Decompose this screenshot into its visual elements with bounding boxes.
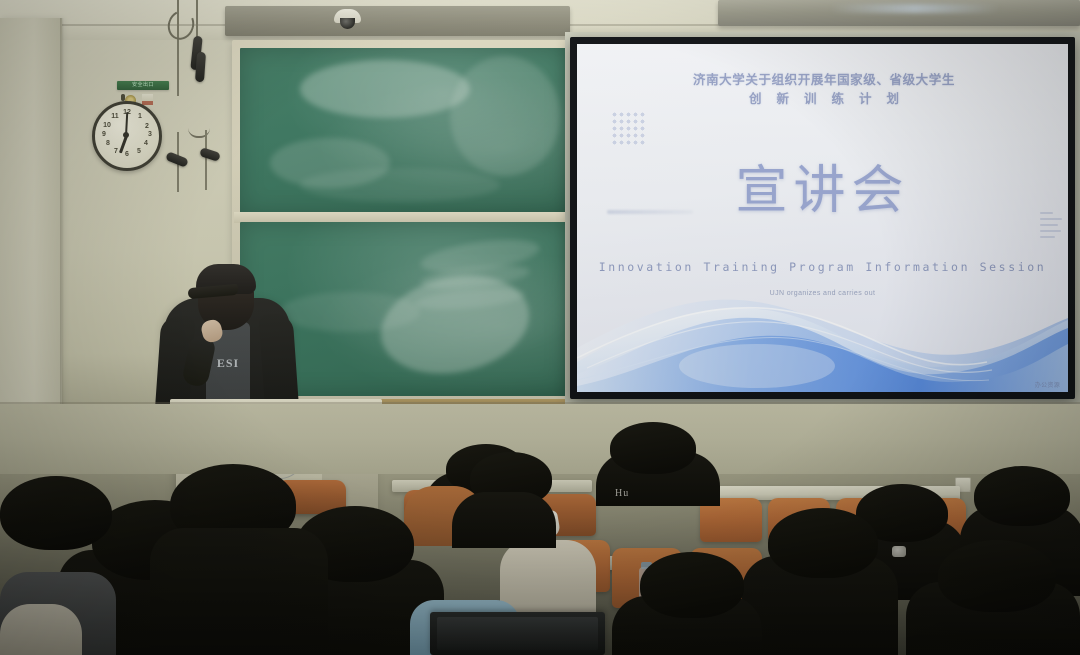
dot-grid-decoration xyxy=(611,111,645,145)
chalk-smudge xyxy=(450,56,560,176)
exit-sign-label: 安全出口 xyxy=(117,81,169,90)
audience-head xyxy=(610,422,696,474)
chalk-smudge xyxy=(300,168,500,202)
clock-center-pin xyxy=(123,132,129,138)
wall-pilaster xyxy=(0,18,62,448)
slide-header-line1: 济南大学关于组织开展年国家级、省级大学生 xyxy=(693,72,955,87)
clock-num-6: 6 xyxy=(122,150,132,160)
clock-num-8: 8 xyxy=(103,139,113,149)
speaker-presenter: ESI xyxy=(158,258,298,418)
wall-pilaster-edge xyxy=(60,18,64,448)
wall-clock: 12 1 2 3 4 5 6 7 8 9 10 11 xyxy=(92,101,162,171)
mic-cable-4 xyxy=(205,130,207,190)
audience-body xyxy=(452,492,556,548)
ceiling-light-glare xyxy=(830,4,1000,13)
clock-num-1: 1 xyxy=(135,112,145,122)
clock-num-5: 5 xyxy=(134,147,144,157)
audience-body xyxy=(0,604,82,655)
blackboard-upper-panel xyxy=(240,48,568,214)
hair-clip xyxy=(892,546,906,557)
lecture-hall-photo: 安全出口 12 1 2 3 4 5 6 7 8 9 10 11 xyxy=(0,0,1080,655)
slide-watermark: 办公资源 xyxy=(1035,380,1060,389)
clock-num-10: 10 xyxy=(102,121,112,131)
clock-num-9: 9 xyxy=(99,130,109,140)
chalk-smudge xyxy=(300,60,470,118)
ceiling-beam-left xyxy=(225,6,570,36)
audience-head xyxy=(768,508,878,578)
audience-head xyxy=(0,476,112,550)
jacket-text: Hu xyxy=(615,488,629,499)
clock-num-11: 11 xyxy=(110,112,120,122)
presentation-slide: 济南大学关于组织开展年国家级、省级大学生 创新训练计划 宣讲会 Innovati… xyxy=(577,44,1068,392)
audience-head xyxy=(974,466,1070,526)
clock-nail xyxy=(121,94,125,101)
exit-sign: 安全出口 xyxy=(117,81,169,90)
slide-wave-graphic xyxy=(577,270,1068,392)
chalk-smudge xyxy=(372,262,538,386)
slide-header-line2: 创新训练计划 xyxy=(629,89,1019,108)
audience-body xyxy=(150,528,328,655)
slide-header: 济南大学关于组织开展年国家级、省级大学生 创新训练计划 xyxy=(629,70,1019,108)
audience-head xyxy=(640,552,744,618)
audience-head xyxy=(938,540,1056,612)
laptop-screen xyxy=(437,617,598,650)
slide-title: 宣讲会 xyxy=(577,160,1068,222)
